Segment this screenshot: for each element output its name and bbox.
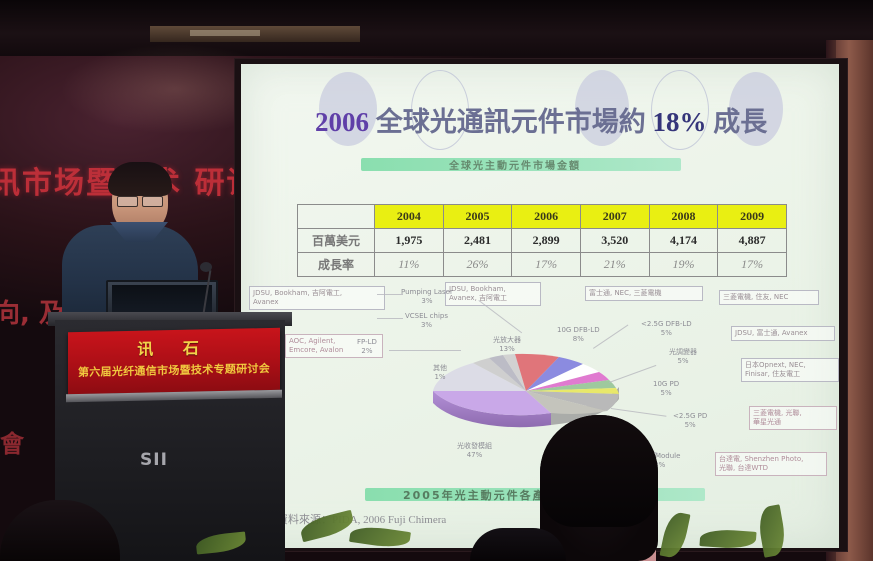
growth-2007: 21%	[580, 253, 649, 277]
screenshot-root: 讯市场暨技术 研讨 向, 及 會 2006 全球光通訊元件市場約 18% 成長 …	[0, 0, 873, 561]
callout-line: 三菱電機, 光聯,	[753, 409, 833, 418]
callout-line: 三菱電機, 住友, NEC	[723, 293, 815, 302]
pie-value-others: 1%	[433, 373, 447, 382]
callout-right-top: 富士通, NEC, 三菱電機	[585, 286, 703, 301]
callout-line: 富士通, NEC, 三菱電機	[589, 289, 699, 298]
pie-label-10g-pd-text: 10G PD	[653, 380, 679, 388]
pie-label-modulator: 光調變器 5%	[669, 348, 697, 366]
pie-label-pumping-laser: Pumping Laser 3%	[401, 288, 453, 306]
market-table: 2004 2005 2006 2007 2008 2009 百萬美元 1,975…	[297, 204, 787, 277]
callout-right-mitsubishi: 三菱電機, 光聯,華星光通	[749, 406, 837, 430]
microphone-head	[200, 262, 212, 272]
pie-value-2-5g-dfb: 5%	[641, 329, 692, 338]
callout-mid-top: JDSU, Bookham,Avanex, 吉阿電工	[445, 282, 541, 306]
revenue-2008: 4,174	[649, 229, 718, 253]
speaker-hair	[108, 162, 172, 196]
table-header-2005: 2005	[443, 205, 512, 229]
pie-label-2-5g-dfb-text: <2.5G DFB-LD	[641, 320, 692, 328]
pie-label-2-5g-pd-text: <2.5G PD	[673, 412, 707, 420]
slide-title: 2006 全球光通訊元件市場約 18% 成長	[315, 100, 835, 146]
callout-line: 日本Opnext, NEC,	[745, 361, 835, 370]
revenue-2004: 1,975	[375, 229, 444, 253]
pie-value-vcsel: 3%	[405, 321, 448, 330]
table-header-2008: 2008	[649, 205, 718, 229]
callout-line: 光聯, 台達WTD	[719, 464, 823, 473]
ceiling-light-strip	[190, 30, 260, 36]
title-year: 2006	[315, 107, 369, 137]
callout-line: 台達電, Shenzhen Photo,	[719, 455, 823, 464]
callout-right-delta: 台達電, Shenzhen Photo,光聯, 台達WTD	[715, 452, 827, 476]
pie-label-others-text: 其他	[433, 364, 447, 372]
growth-2004: 11%	[375, 253, 444, 277]
pie-label-2-5g-pd: <2.5G PD 5%	[673, 412, 707, 430]
leader-line-2	[377, 318, 403, 319]
table-row-growth: 成長率 11% 26% 17% 21% 19% 17%	[298, 253, 787, 277]
pie-label-fp-ld: FP-LD 2%	[357, 338, 377, 356]
growth-2008: 19%	[649, 253, 718, 277]
table-row-revenue: 百萬美元 1,975 2,481 2,899 3,520 4,174 4,887	[298, 229, 787, 253]
callout-right-opnext: 日本Opnext, NEC,Finisar, 住友電工	[741, 358, 839, 382]
pie-label-amplifier: 光放大器 13%	[493, 336, 521, 354]
callout-left-top: JDSU, Bookham, 吉阿電工,Avanex	[249, 286, 385, 310]
pie-value-2-5g-pd: 5%	[673, 421, 707, 430]
pie-value-pumping-laser: 3%	[401, 297, 453, 306]
pie-label-amplifier-text: 光放大器	[493, 336, 521, 344]
pie-value-modulator: 5%	[669, 357, 697, 366]
pie-value-amplifier: 13%	[493, 345, 521, 354]
growth-2006: 17%	[512, 253, 581, 277]
pie-label-pumping-laser-text: Pumping Laser	[401, 288, 453, 296]
callout-far-right-top: 三菱電機, 住友, NEC	[719, 290, 819, 305]
pie-slices	[433, 354, 619, 415]
table-header-2007: 2007	[580, 205, 649, 229]
speaker-glasses-left	[117, 196, 138, 207]
table-header-2006: 2006	[512, 205, 581, 229]
pie-label-10g-pd: 10G PD 5%	[653, 380, 679, 398]
pie-label-fp-ld-text: FP-LD	[357, 338, 377, 346]
pie-label-transceiver-text: 光收發模組	[457, 442, 492, 450]
top-bar-label: 全球光主動元件市場金額	[449, 157, 581, 172]
table-header-2004: 2004	[375, 205, 444, 229]
callout-line: 華星光通	[753, 418, 833, 427]
callout-line: JDSU, 富士通, Avanex	[735, 329, 831, 338]
pie-label-10g-dfb: 10G DFB-LD 8%	[557, 326, 600, 344]
revenue-2005: 2,481	[443, 229, 512, 253]
table-header-2009: 2009	[718, 205, 787, 229]
pie-label-others: 其他 1%	[433, 364, 447, 382]
pie-label-2-5g-dfb: <2.5G DFB-LD 5%	[641, 320, 692, 338]
table-row-header: 2004 2005 2006 2007 2008 2009	[298, 205, 787, 229]
pie-label-10g-dfb-text: 10G DFB-LD	[557, 326, 600, 334]
title-main: 全球光通訊元件市場約	[376, 107, 646, 137]
slide-footnote: 資料來源：PIDA, 2006 Fuji Chimera	[277, 511, 446, 527]
pie-label-vcsel: VCSEL chips 3%	[405, 312, 448, 330]
pie-label-vcsel-text: VCSEL chips	[405, 312, 448, 320]
pie-value-fp-ld: 2%	[357, 347, 377, 356]
title-percent: 18%	[653, 107, 707, 137]
audience-person-hair	[540, 415, 658, 527]
revenue-2006: 2,899	[512, 229, 581, 253]
podium-banner-org: 讯 石	[68, 333, 280, 361]
row-label-growth: 成長率	[298, 253, 375, 277]
audience-head-center	[470, 528, 566, 561]
title-tail: 成長	[713, 107, 767, 137]
revenue-2007: 3,520	[580, 229, 649, 253]
revenue-2009: 4,887	[718, 229, 787, 253]
callout-line: Avanex	[253, 298, 381, 307]
pie-value-10g-dfb: 8%	[557, 335, 600, 344]
callout-right-jdsu: JDSU, 富士通, Avanex	[731, 326, 835, 341]
speaker-glasses-right	[142, 196, 163, 207]
pie-value-transceiver: 47%	[457, 451, 492, 460]
pie-value-10g-pd: 5%	[653, 389, 679, 398]
table-corner-cell	[298, 205, 375, 229]
podium-banner: 讯 石 第六届光纤通信市场暨技术专题研讨会	[68, 328, 280, 394]
pie-label-modulator-text: 光調變器	[669, 348, 697, 356]
leader-line-3	[389, 350, 461, 351]
growth-2009: 17%	[718, 253, 787, 277]
podium-logo: SII	[140, 450, 204, 472]
callout-line: JDSU, Bookham, 吉阿電工,	[253, 289, 381, 298]
leader-line-1	[377, 294, 403, 295]
pie-label-transceiver: 光收發模組 47%	[457, 442, 492, 460]
callout-line: Avanex, 吉阿電工	[449, 294, 537, 303]
growth-2005: 26%	[443, 253, 512, 277]
callout-line: Finisar, 住友電工	[745, 370, 835, 379]
callout-line: JDSU, Bookham,	[449, 285, 537, 294]
podium-banner-event: 第六届光纤通信市场暨技术专题研讨会	[68, 360, 280, 380]
row-label-revenue: 百萬美元	[298, 229, 375, 253]
